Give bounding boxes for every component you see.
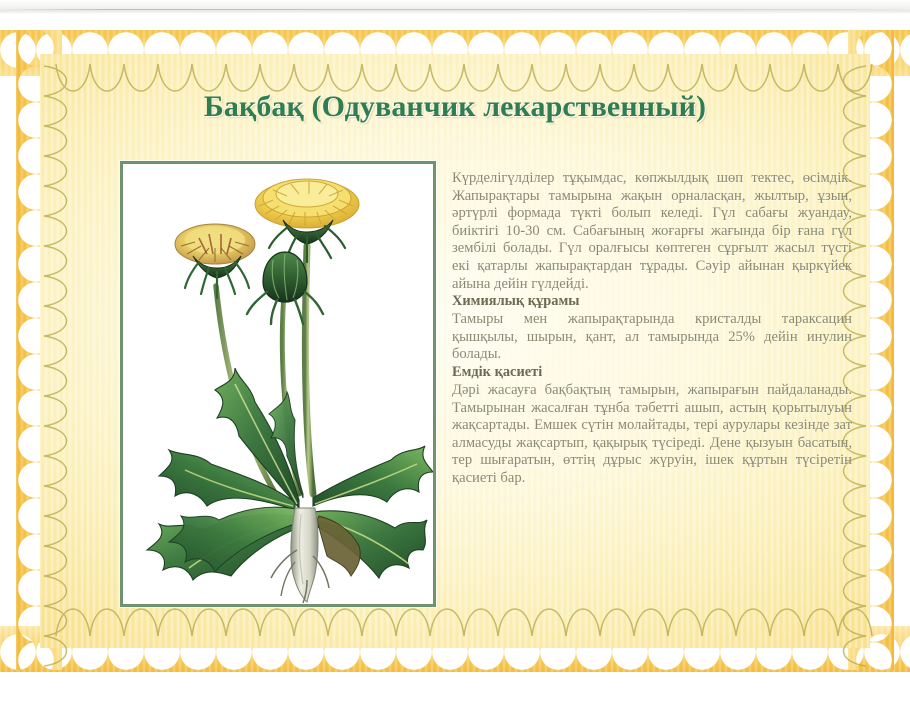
section-body: Дәрі жасауға бақбақтың тамырын, жапырағы… <box>452 382 852 488</box>
scanner-edge-strip <box>0 0 910 14</box>
dandelion-illustration-frame <box>120 161 436 607</box>
article-column: Күрделігүлділер тұқымдас, көпжылдық шөп … <box>452 170 852 488</box>
section-body: Күрделігүлділер тұқымдас, көпжылдық шөп … <box>452 170 852 293</box>
poster-canvas: Бақбақ (Одуванчик лекарственный) <box>0 14 910 686</box>
page-title: Бақбақ (Одуванчик лекарственный) <box>60 90 850 124</box>
section-heading: Емдік қасиеті <box>452 364 852 381</box>
section-description: Күрделігүлділер тұқымдас, көпжылдық шөп … <box>452 170 852 293</box>
section-chemical-composition: Химиялық құрамы Тамыры мен жапырақтарынд… <box>452 293 852 364</box>
section-heading: Химиялық құрамы <box>452 293 852 310</box>
section-body: Тамыры мен жапырақтарында кристалды тара… <box>452 311 852 364</box>
dandelion-illustration <box>123 164 433 604</box>
section-medicinal-properties: Емдік қасиеті Дәрі жасауға бақбақтың там… <box>452 364 852 488</box>
